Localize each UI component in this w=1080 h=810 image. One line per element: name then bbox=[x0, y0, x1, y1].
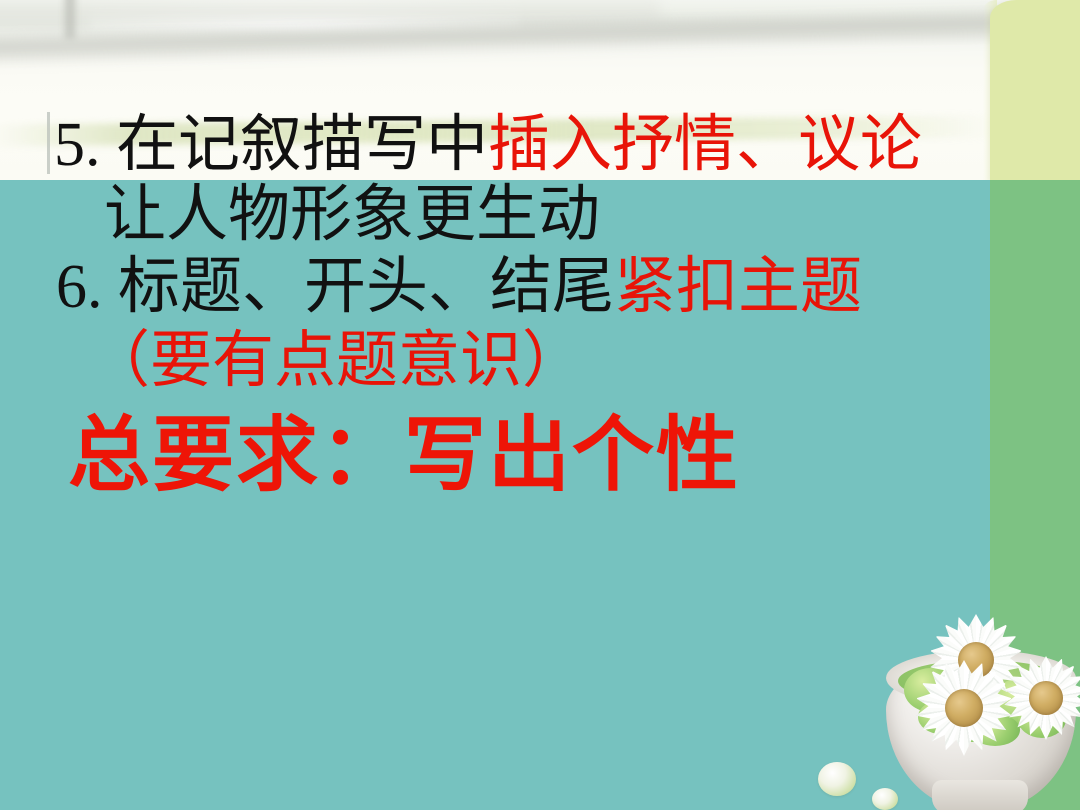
bullet-item-5: 5. 在记叙描写中插入抒情、议论 bbox=[54, 110, 922, 180]
summary-headline: 总要求：写出个性 bbox=[68, 408, 740, 504]
bullet-6-red-text: 紧扣主题 bbox=[614, 253, 862, 321]
presentation-slide: 5. 在记叙描写中插入抒情、议论 让人物形象更生动 6. 标题、开头、结尾紧扣主… bbox=[0, 0, 1080, 810]
bullet-5-red-text: 插入抒情、议论 bbox=[488, 111, 922, 179]
bullet-6-note-text: （要有点题意识） bbox=[88, 327, 584, 395]
bullet-item-5-continuation: 让人物形象更生动 bbox=[104, 180, 600, 250]
bullet-item-6-note: （要有点题意识） bbox=[88, 326, 584, 396]
bullet-5-black-text: 5. 在记叙描写中 bbox=[54, 111, 488, 179]
bullet-item-6: 6. 标题、开头、结尾紧扣主题 bbox=[56, 252, 862, 322]
bullet-6-black-text: 6. 标题、开头、结尾 bbox=[56, 253, 614, 321]
bullet-5-continuation-text: 让人物形象更生动 bbox=[104, 181, 600, 249]
slide-text-layer: 5. 在记叙描写中插入抒情、议论 让人物形象更生动 6. 标题、开头、结尾紧扣主… bbox=[0, 0, 1080, 810]
